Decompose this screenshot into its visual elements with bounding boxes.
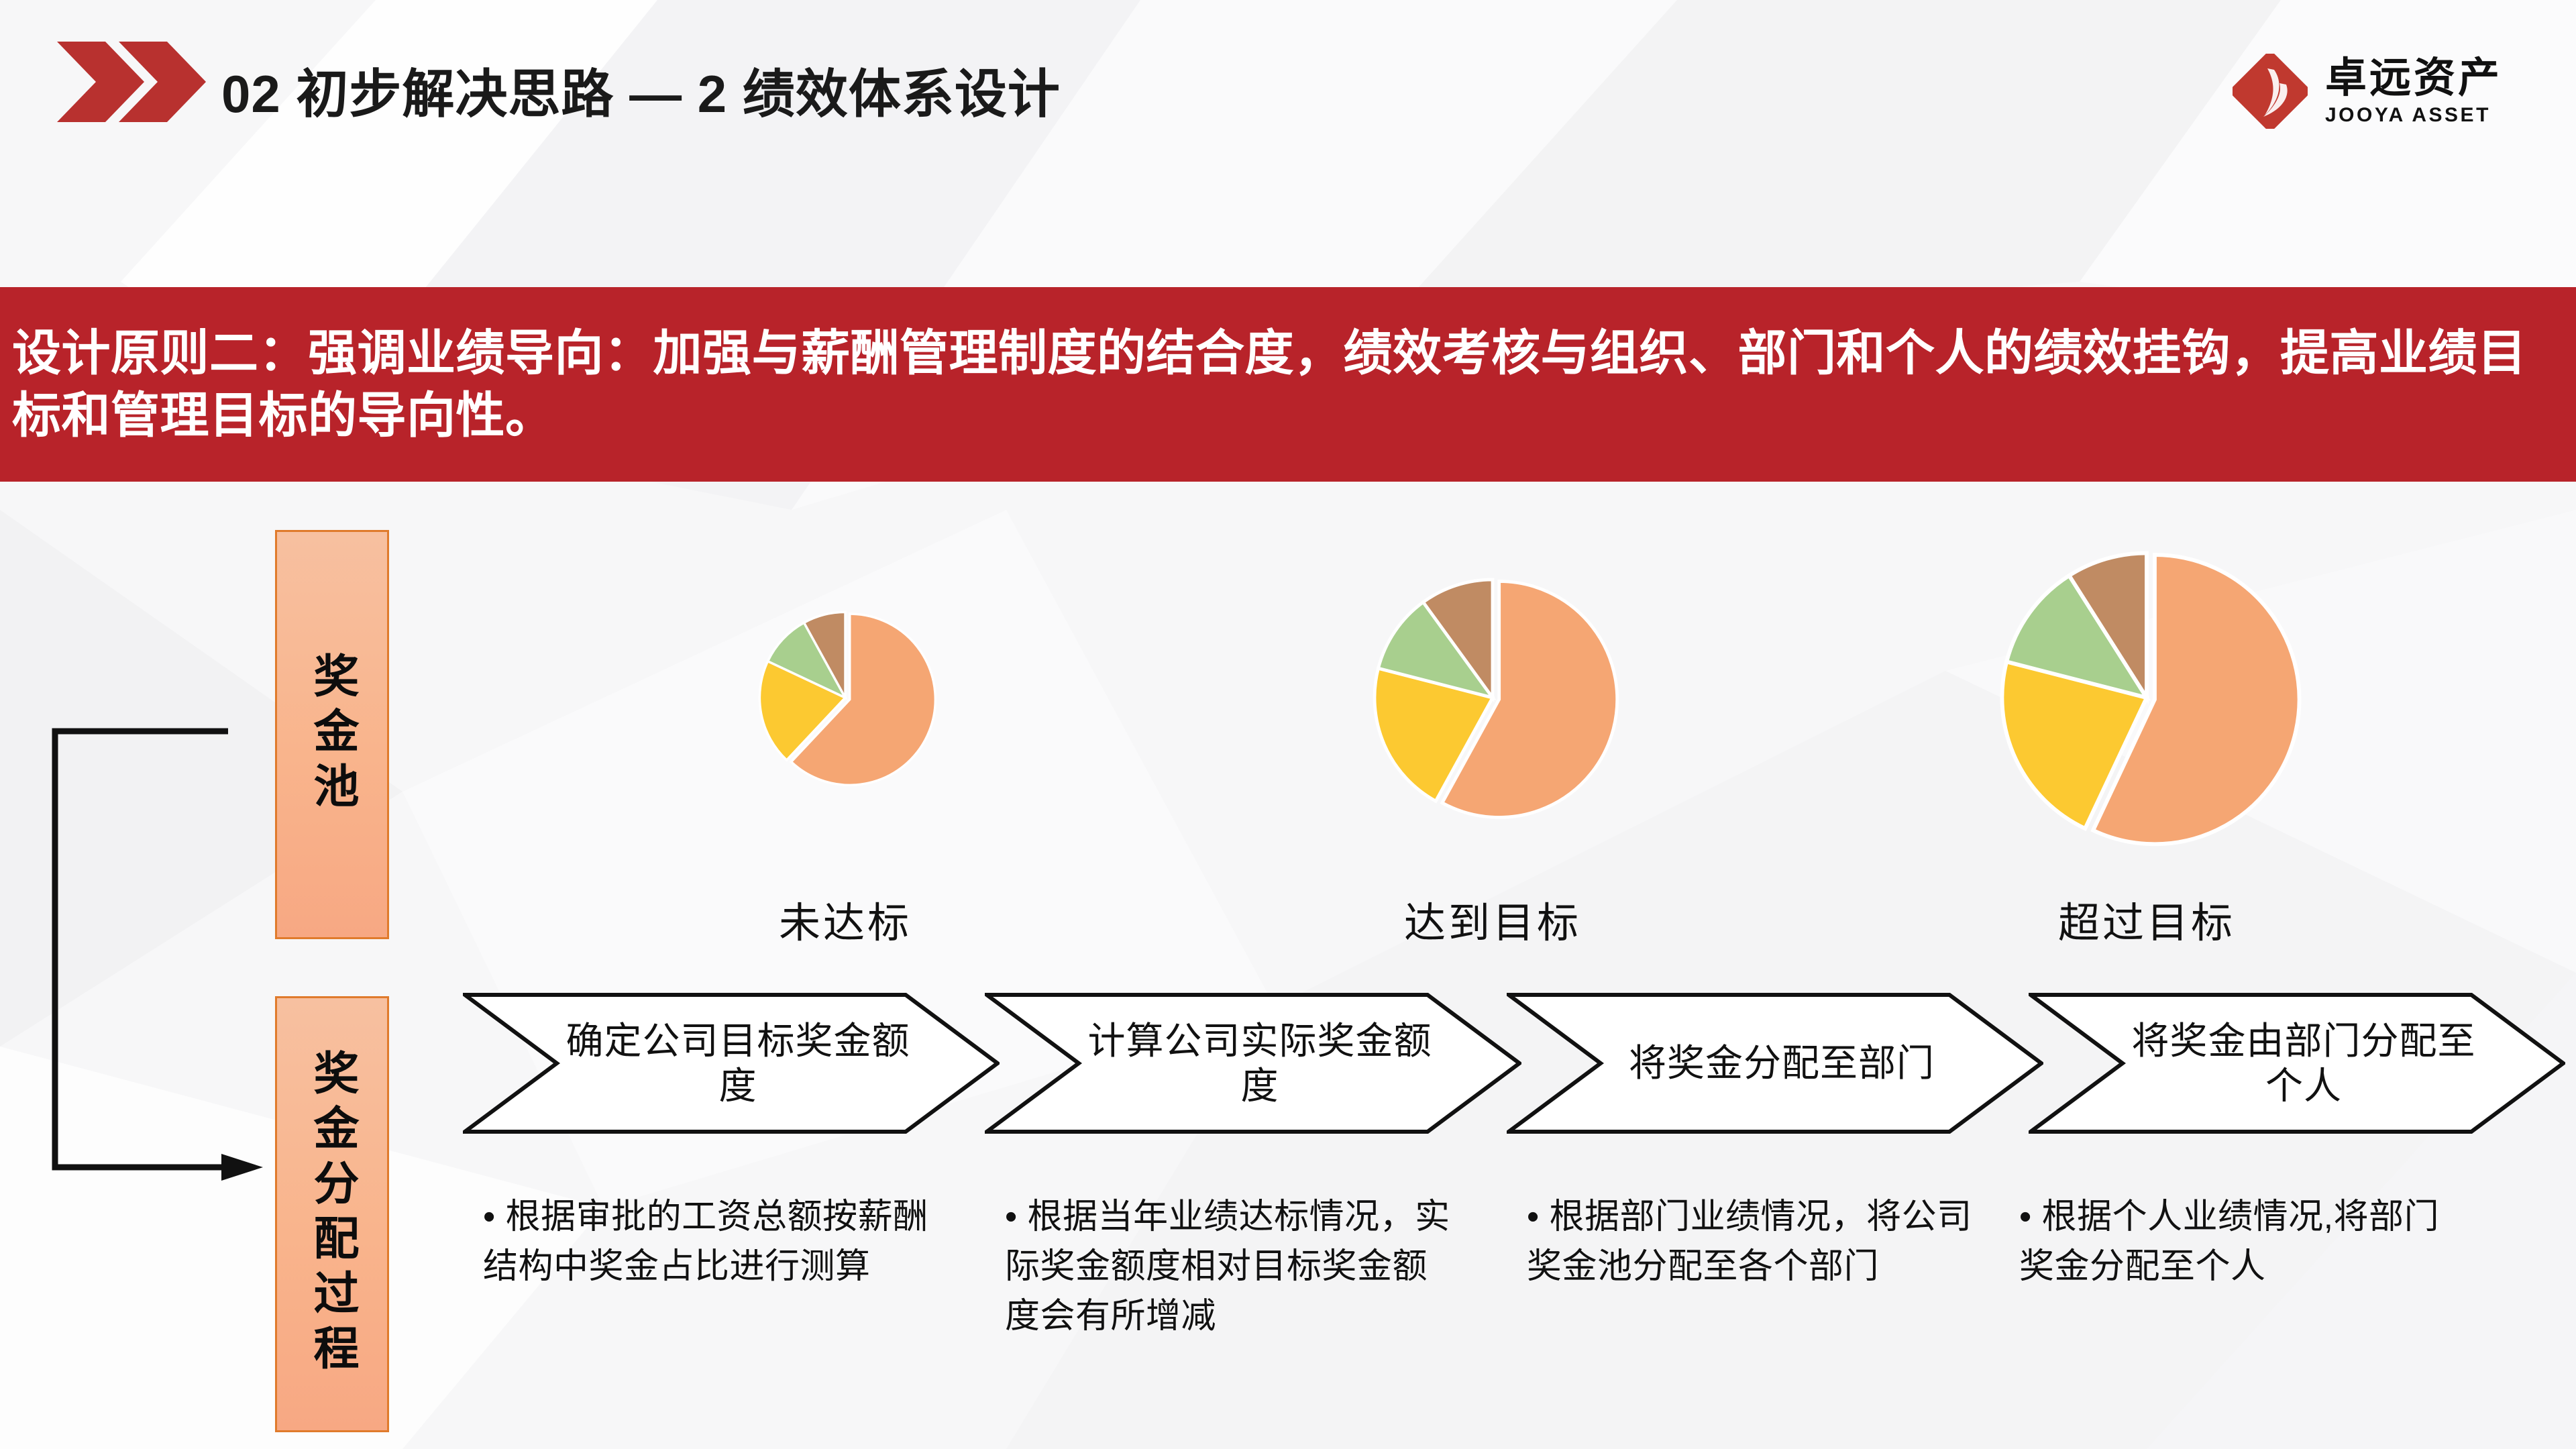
process-step-2[interactable]: 计算公司实际奖金额度 — [985, 993, 1521, 1134]
process-step-1-label: 确定公司目标奖金额度 — [563, 993, 912, 1134]
process-note-4-text: 根据个人业绩情况,将部门奖金分配至个人 — [2019, 1197, 2439, 1286]
process-note-2: • 根据当年业绩达标情况，实际奖金额度相对目标奖金额度会有所增减 — [1005, 1193, 1461, 1341]
process-step-1[interactable]: 确定公司目标奖金额度 — [463, 993, 1000, 1134]
page-title: 02 初步解决思路 — 2 绩效体系设计 — [221, 52, 1061, 127]
slide-header: 02 初步解决思路 — 2 绩效体系设计 卓远资产 JOOYA ASSET — [0, 0, 2576, 241]
process-note-1: • 根据审批的工资总额按薪酬结构中奖金占比进行测算 — [483, 1193, 939, 1292]
side-label-bonus-distribution: 奖金分配过程 — [275, 996, 389, 1432]
process-note-1-text: 根据审批的工资总额按薪酬结构中奖金占比进行测算 — [483, 1197, 928, 1286]
pie-chart-exceeds-target — [1982, 533, 2311, 862]
process-note-3-text: 根据部门业绩情况，将公司奖金池分配至各个部门 — [1527, 1197, 1972, 1286]
bracket-connector-arrow — [0, 724, 282, 1194]
process-step-2-label: 计算公司实际奖金额度 — [1085, 993, 1434, 1134]
pie-chart-below-target — [748, 600, 943, 795]
process-step-4[interactable]: 将奖金由部门分配至个人 — [2029, 993, 2565, 1134]
process-note-3: • 根据部门业绩情况，将公司奖金池分配至各个部门 — [1527, 1193, 1983, 1292]
pie-chart-meets-target — [1358, 563, 1627, 832]
double-chevron-right-icon — [57, 42, 218, 122]
design-principle-banner: 设计原则二：强调业绩导向：加强与薪酬管理制度的结合度，绩效考核与组织、部门和个人… — [0, 287, 2576, 482]
bullet-dot-icon: • — [1005, 1193, 1018, 1242]
process-step-4-label: 将奖金由部门分配至个人 — [2129, 993, 2478, 1134]
logo-name-cn: 卓远资产 — [2325, 58, 2502, 99]
side-label-bonus-pool: 奖金池 — [275, 530, 389, 939]
design-principle-text: 设计原则二：强调业绩导向：加强与薪酬管理制度的结合度，绩效考核与组织、部门和个人… — [0, 322, 2576, 447]
pie-label-exceeds-target: 超过目标 — [1945, 889, 2348, 949]
process-step-3-label: 将奖金分配至部门 — [1607, 993, 1956, 1134]
pie-label-meets-target: 达到目标 — [1325, 889, 1660, 949]
process-step-3[interactable]: 将奖金分配至部门 — [1507, 993, 2043, 1134]
bullet-dot-icon: • — [1527, 1193, 1540, 1242]
side-label-bonus-distribution-text: 奖金分配过程 — [309, 1049, 355, 1379]
bullet-dot-icon: • — [483, 1193, 496, 1242]
pie-label-below-target: 未达标 — [711, 889, 979, 949]
logo-name-en: JOOYA ASSET — [2325, 105, 2502, 125]
process-note-2-text: 根据当年业绩达标情况，实际奖金额度相对目标奖金额度会有所增减 — [1005, 1197, 1450, 1336]
bullet-dot-icon: • — [2019, 1193, 2032, 1242]
brand-logo: 卓远资产 JOOYA ASSET — [2233, 54, 2502, 129]
jooya-diamond-logo-icon — [2233, 54, 2308, 129]
side-label-bonus-pool-text: 奖金池 — [309, 652, 355, 817]
process-note-4: • 根据个人业绩情况,将部门奖金分配至个人 — [2019, 1193, 2449, 1292]
